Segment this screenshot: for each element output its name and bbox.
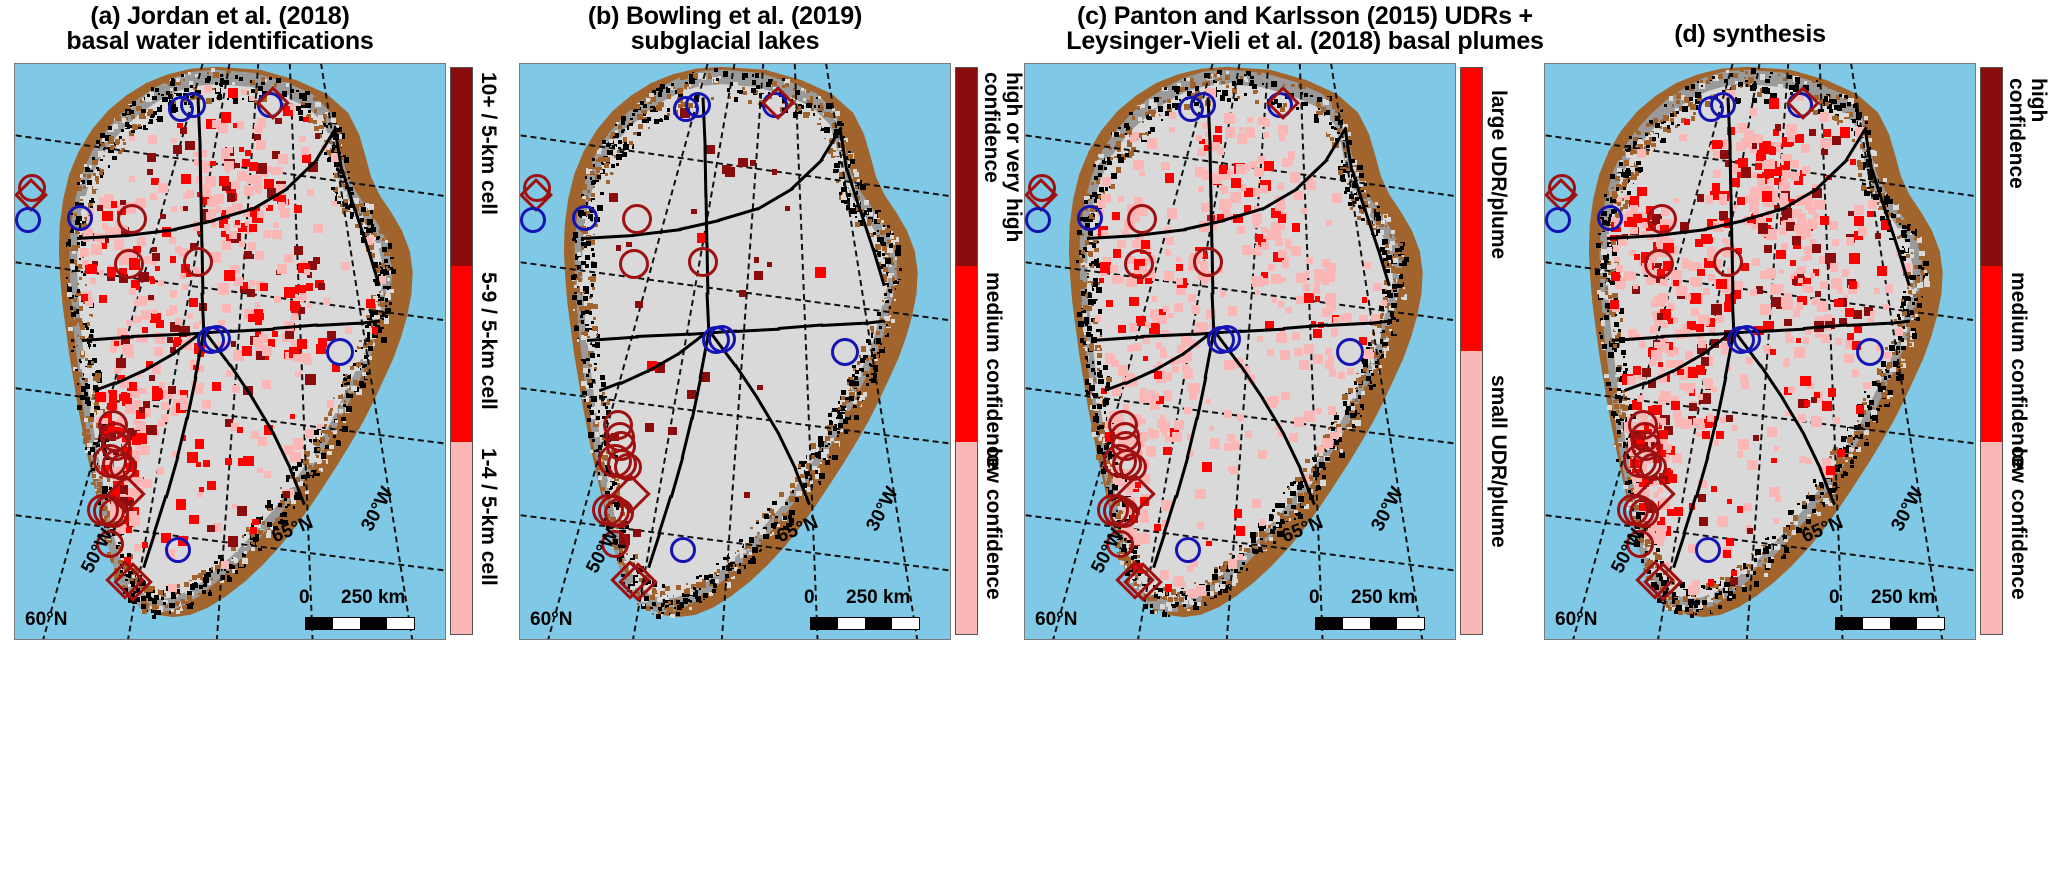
panel-b-title: (b) Bowling et al. (2019) subglacial lak… bbox=[505, 4, 945, 54]
panel-c: (c) Panton and Karlsson (2015) UDRs + Le… bbox=[1010, 0, 1500, 870]
panel-a-colorbar-segment-0 bbox=[451, 68, 472, 266]
panel-b-map[interactable]: 60°N50°W65°N30°W0250 km bbox=[519, 63, 951, 640]
map-symbol-circle-6 bbox=[1545, 207, 1571, 233]
panel-d-colorbar-segment-0 bbox=[1981, 68, 2002, 266]
scale-bar bbox=[1835, 617, 1945, 630]
map-symbol-circle-6 bbox=[520, 207, 546, 233]
map-symbol-circle-7 bbox=[1077, 205, 1103, 231]
point-symbols bbox=[15, 64, 445, 639]
map-symbol-circle-13 bbox=[1856, 338, 1884, 366]
panel-d-title: (d) synthesis bbox=[1530, 22, 1970, 47]
panel-a-colorbar-segment-1 bbox=[451, 266, 472, 441]
panel-a-colorbar-label-2: 1-4 / 5-km cell bbox=[478, 448, 499, 586]
panel-a-colorbar[interactable] bbox=[450, 67, 473, 635]
panel-d-title-line1: (d) synthesis bbox=[1674, 20, 1826, 48]
panel-c-colorbar-label-1: small UDR/plume bbox=[1488, 375, 1509, 548]
panel-b-colorbar-segment-1 bbox=[956, 266, 977, 441]
scale-bar-zero-label: 0 bbox=[1829, 587, 1840, 609]
point-symbols bbox=[1545, 64, 1975, 639]
map-symbol-circle-23 bbox=[1109, 498, 1139, 528]
map-symbol-circle-12 bbox=[1733, 325, 1761, 353]
scale-bar-zero-label: 0 bbox=[299, 587, 310, 609]
panel-b-title-line2: subglacial lakes bbox=[505, 29, 945, 54]
panel-d-colorbar-segment-1 bbox=[1981, 266, 2002, 441]
map-symbol-circle-8 bbox=[1127, 204, 1157, 234]
point-symbols bbox=[520, 64, 950, 639]
map-symbol-circle-23 bbox=[1629, 498, 1659, 528]
scale-bar-length-label: 250 km bbox=[341, 587, 405, 609]
graticule-label-60°N: 60°N bbox=[25, 609, 67, 631]
panel-d-map[interactable]: 60°N50°W65°N30°W0250 km bbox=[1544, 63, 1976, 640]
map-symbol-circle-9 bbox=[619, 249, 649, 279]
panel-a-map[interactable]: 60°N50°W65°N30°W0250 km bbox=[14, 63, 446, 640]
panel-d: (d) synthesis 60°N50°W65°N30°W0250 km hi… bbox=[1530, 0, 2020, 870]
panel-a-title-line1: (a) Jordan et al. (2018) bbox=[90, 2, 349, 30]
panel-c-colorbar-segment-0 bbox=[1461, 68, 1482, 351]
map-symbol-circle-12 bbox=[708, 325, 736, 353]
panel-b-colorbar-label-1: medium confidence bbox=[983, 272, 1004, 469]
panel-b-colorbar-segment-2 bbox=[956, 442, 977, 634]
map-symbol-circle-6 bbox=[15, 207, 41, 233]
map-symbol-circle-13 bbox=[831, 338, 859, 366]
scale-bar bbox=[305, 617, 415, 630]
map-symbol-circle-9 bbox=[1124, 249, 1154, 279]
panel-d-colorbar[interactable] bbox=[1980, 67, 2003, 635]
map-symbol-circle-12 bbox=[1213, 325, 1241, 353]
panel-c-colorbar[interactable] bbox=[1460, 67, 1483, 635]
scale-bar-zero-label: 0 bbox=[1309, 587, 1320, 609]
panel-d-colorbar-label-2: low confidence bbox=[2008, 448, 2029, 600]
map-symbol-circle-25 bbox=[1695, 537, 1721, 563]
graticule-label-60°N: 60°N bbox=[1555, 609, 1597, 631]
map-symbol-circle-8 bbox=[622, 204, 652, 234]
panel-a-title: (a) Jordan et al. (2018) basal water ide… bbox=[0, 4, 440, 54]
panel-b-colorbar-segment-0 bbox=[956, 68, 977, 266]
map-symbol-circle-7 bbox=[67, 205, 93, 231]
panel-d-colorbar-segment-2 bbox=[1981, 442, 2002, 634]
panel-d-colorbar-label-1: medium confidence bbox=[2008, 272, 2029, 469]
scale-bar-zero-label: 0 bbox=[804, 587, 815, 609]
map-symbol-circle-13 bbox=[326, 338, 354, 366]
scale-bar-length-label: 250 km bbox=[1351, 587, 1415, 609]
map-symbol-circle-1 bbox=[685, 92, 711, 118]
map-symbol-circle-12 bbox=[203, 325, 231, 353]
graticule-label-60°N: 60°N bbox=[530, 609, 572, 631]
panel-a-title-line2: basal water identifications bbox=[0, 29, 440, 54]
scale-bar bbox=[1315, 617, 1425, 630]
point-symbols bbox=[1025, 64, 1455, 639]
map-symbol-circle-13 bbox=[1336, 338, 1364, 366]
scale-bar-length-label: 250 km bbox=[846, 587, 910, 609]
map-symbol-circle-10 bbox=[183, 247, 213, 277]
graticule-label-60°N: 60°N bbox=[1035, 609, 1077, 631]
map-symbol-circle-9 bbox=[1644, 249, 1674, 279]
map-symbol-circle-25 bbox=[1175, 537, 1201, 563]
panel-c-colorbar-label-0: large UDR/plume bbox=[1488, 90, 1509, 259]
map-symbol-circle-25 bbox=[670, 537, 696, 563]
figure-root: (a) Jordan et al. (2018) basal water ide… bbox=[0, 0, 2067, 870]
panel-a-colorbar-segment-2 bbox=[451, 442, 472, 634]
map-symbol-circle-8 bbox=[1647, 204, 1677, 234]
map-symbol-circle-1 bbox=[180, 92, 206, 118]
panel-b-colorbar-label-2: low confidence bbox=[983, 448, 1004, 600]
map-symbol-circle-10 bbox=[1193, 247, 1223, 277]
map-symbol-circle-9 bbox=[114, 249, 144, 279]
map-symbol-circle-1 bbox=[1190, 92, 1216, 118]
panel-d-colorbar-label-0: highconfidence bbox=[2005, 78, 2049, 189]
map-symbol-circle-23 bbox=[99, 498, 129, 528]
panel-a-colorbar-label-0: 10+ / 5-km cell bbox=[478, 72, 499, 215]
panel-c-title-line1: (c) Panton and Karlsson (2015) UDRs + bbox=[1077, 2, 1533, 30]
panel-c-colorbar-segment-1 bbox=[1461, 351, 1482, 634]
panel-b-title-line1: (b) Bowling et al. (2019) bbox=[588, 2, 862, 30]
map-symbol-circle-23 bbox=[604, 498, 634, 528]
map-symbol-circle-8 bbox=[117, 204, 147, 234]
map-symbol-circle-25 bbox=[165, 537, 191, 563]
scale-bar bbox=[810, 617, 920, 630]
panel-b: (b) Bowling et al. (2019) subglacial lak… bbox=[505, 0, 985, 870]
panel-b-colorbar[interactable] bbox=[955, 67, 978, 635]
panel-c-map[interactable]: 60°N50°W65°N30°W0250 km bbox=[1024, 63, 1456, 640]
scale-bar-length-label: 250 km bbox=[1871, 587, 1935, 609]
panel-a-colorbar-label-1: 5-9 / 5-km cell bbox=[478, 272, 499, 410]
map-symbol-circle-7 bbox=[1597, 205, 1623, 231]
panel-a: (a) Jordan et al. (2018) basal water ide… bbox=[0, 0, 480, 870]
map-symbol-circle-7 bbox=[572, 205, 598, 231]
map-symbol-circle-10 bbox=[1713, 247, 1743, 277]
map-symbol-circle-6 bbox=[1025, 207, 1051, 233]
map-symbol-circle-1 bbox=[1710, 92, 1736, 118]
map-symbol-circle-10 bbox=[688, 247, 718, 277]
